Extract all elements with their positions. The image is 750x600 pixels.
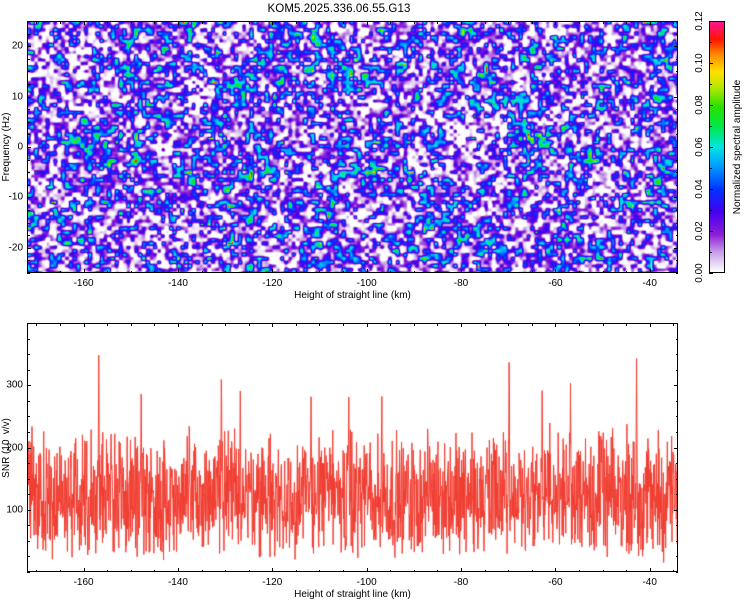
x-minor-tick-top <box>202 323 203 326</box>
x-tick-label: -140 <box>168 278 188 289</box>
x-minor-tick-top <box>107 21 108 24</box>
colorbar-tick-label: 0.12 <box>694 11 705 30</box>
x-major-tick <box>178 568 179 572</box>
x-minor-tick <box>202 570 203 573</box>
x-major-tick <box>367 269 368 273</box>
x-major-tick-top <box>272 21 273 25</box>
y-minor-tick-right <box>676 494 679 495</box>
x-major-tick <box>555 269 556 273</box>
x-minor-tick <box>319 570 320 573</box>
x-minor-tick <box>508 271 509 274</box>
x-minor-tick <box>107 271 108 274</box>
y-minor-tick <box>27 479 30 480</box>
x-major-tick-top <box>461 323 462 327</box>
y-minor-tick <box>27 84 30 85</box>
x-tick-label: -80 <box>454 577 468 588</box>
y-minor-tick-right <box>676 210 679 211</box>
x-minor-tick <box>626 570 627 573</box>
x-minor-tick-top <box>60 323 61 326</box>
y-minor-tick-right <box>676 401 679 402</box>
y-minor-tick <box>27 339 30 340</box>
x-minor-tick-top <box>343 21 344 24</box>
x-major-tick <box>178 269 179 273</box>
y-major-tick-right <box>674 510 678 511</box>
x-major-tick-top <box>84 323 85 327</box>
y-minor-tick-right <box>676 235 679 236</box>
y-minor-tick-right <box>676 109 679 110</box>
x-minor-tick <box>579 570 580 573</box>
x-tick-label: -120 <box>262 577 282 588</box>
y-major-tick <box>27 385 31 386</box>
x-minor-tick <box>225 271 226 274</box>
y-major-tick-right <box>674 147 678 148</box>
x-minor-tick-top <box>225 21 226 24</box>
x-minor-tick <box>673 570 674 573</box>
y-tick-label: 20 <box>0 41 23 52</box>
x-minor-tick-top <box>319 323 320 326</box>
x-major-tick-top <box>178 21 179 25</box>
y-minor-tick-right <box>676 323 679 324</box>
x-major-tick <box>650 269 651 273</box>
colorbar-tick <box>709 105 713 106</box>
colorbar-minor-tick <box>709 42 712 43</box>
x-minor-tick-top <box>319 21 320 24</box>
y-minor-tick <box>27 185 30 186</box>
spectrogram-canvas <box>28 22 678 273</box>
x-minor-tick-top <box>414 21 415 24</box>
x-minor-tick <box>485 271 486 274</box>
x-major-tick-top <box>555 21 556 25</box>
colorbar-tick-label: 0.00 <box>694 263 705 282</box>
x-minor-tick-top <box>414 323 415 326</box>
y-minor-tick-right <box>676 160 679 161</box>
y-minor-tick-right <box>676 21 679 22</box>
x-tick-label: -100 <box>357 577 377 588</box>
x-major-tick-top <box>367 323 368 327</box>
x-minor-tick <box>343 570 344 573</box>
y-minor-tick-right <box>676 172 679 173</box>
x-major-tick <box>650 568 651 572</box>
colorbar-tick-label: 0.06 <box>694 137 705 156</box>
x-minor-tick-top <box>249 21 250 24</box>
x-tick-label: -100 <box>357 278 377 289</box>
x-axis-title: Height of straight line (km) <box>294 290 411 301</box>
y-tick-label: 10 <box>0 91 23 102</box>
y-minor-tick-right <box>676 525 679 526</box>
y-minor-tick <box>27 416 30 417</box>
x-minor-tick-top <box>390 21 391 24</box>
x-minor-tick-top <box>673 323 674 326</box>
y-minor-tick-right <box>676 59 679 60</box>
y-minor-tick <box>27 260 30 261</box>
x-minor-tick-top <box>532 323 533 326</box>
x-minor-tick-top <box>390 323 391 326</box>
colorbar-tick <box>709 231 713 232</box>
y-minor-tick-right <box>676 339 679 340</box>
y-major-tick-right <box>674 97 678 98</box>
y-minor-tick <box>27 59 30 60</box>
y-minor-tick <box>27 160 30 161</box>
x-minor-tick-top <box>36 21 37 24</box>
x-minor-tick <box>532 271 533 274</box>
y-minor-tick <box>27 323 30 324</box>
y-minor-tick <box>27 494 30 495</box>
colorbar-tick-label: 0.08 <box>694 95 705 114</box>
y-minor-tick-right <box>676 354 679 355</box>
x-minor-tick <box>414 570 415 573</box>
x-minor-tick-top <box>508 21 509 24</box>
x-minor-tick <box>154 271 155 274</box>
colorbar-tick <box>709 273 713 274</box>
y-minor-tick <box>27 71 30 72</box>
x-major-tick <box>367 568 368 572</box>
x-tick-label: -160 <box>74 577 94 588</box>
x-minor-tick-top <box>131 323 132 326</box>
x-minor-tick <box>579 271 580 274</box>
y-minor-tick-right <box>676 370 679 371</box>
x-tick-label: -60 <box>548 577 562 588</box>
y-minor-tick <box>27 463 30 464</box>
y-major-tick-right <box>674 197 678 198</box>
x-minor-tick <box>603 271 604 274</box>
x-minor-tick <box>60 570 61 573</box>
x-minor-tick-top <box>485 323 486 326</box>
colorbar-tick-label: 0.04 <box>694 179 705 198</box>
colorbar-minor-tick <box>709 168 712 169</box>
colorbar-tick-label: 0.10 <box>694 53 705 72</box>
x-minor-tick-top <box>532 21 533 24</box>
x-minor-tick <box>390 570 391 573</box>
y-minor-tick <box>27 556 30 557</box>
x-minor-tick <box>437 570 438 573</box>
x-minor-tick-top <box>626 21 627 24</box>
y-minor-tick <box>27 370 30 371</box>
x-minor-tick <box>296 271 297 274</box>
x-minor-tick <box>508 570 509 573</box>
y-minor-tick <box>27 572 30 573</box>
x-minor-tick <box>532 570 533 573</box>
x-minor-tick <box>603 570 604 573</box>
colorbar-tick <box>709 63 713 64</box>
x-minor-tick <box>60 271 61 274</box>
x-minor-tick-top <box>437 21 438 24</box>
x-minor-tick-top <box>485 21 486 24</box>
y-minor-tick <box>27 354 30 355</box>
y-minor-tick <box>27 134 30 135</box>
y-tick-label: -20 <box>0 242 23 253</box>
x-minor-tick-top <box>107 323 108 326</box>
x-major-tick-top <box>650 323 651 327</box>
x-major-tick <box>461 568 462 572</box>
x-minor-tick <box>131 271 132 274</box>
y-minor-tick-right <box>676 432 679 433</box>
x-minor-tick <box>485 570 486 573</box>
x-minor-tick-top <box>579 323 580 326</box>
x-minor-tick-top <box>225 323 226 326</box>
y-minor-tick-right <box>676 223 679 224</box>
x-minor-tick-top <box>508 323 509 326</box>
x-minor-tick <box>225 570 226 573</box>
x-minor-tick-top <box>202 21 203 24</box>
y-major-tick <box>27 197 31 198</box>
page-title: KOM5.2025.336.06.55.G13 <box>0 3 678 15</box>
y-major-tick <box>27 248 31 249</box>
y-minor-tick <box>27 525 30 526</box>
x-major-tick-top <box>272 323 273 327</box>
x-minor-tick-top <box>154 21 155 24</box>
x-minor-tick <box>36 570 37 573</box>
y-major-tick-right <box>674 46 678 47</box>
x-minor-tick-top <box>603 323 604 326</box>
x-minor-tick-top <box>673 21 674 24</box>
x-major-tick-top <box>461 21 462 25</box>
x-major-tick <box>84 568 85 572</box>
colorbar-minor-tick <box>709 126 712 127</box>
spectrogram-plot-area <box>27 21 678 273</box>
x-major-tick-top <box>555 323 556 327</box>
colorbar-tick <box>709 189 713 190</box>
y-major-tick-right <box>674 385 678 386</box>
colorbar-title: Normalized spectral amplitude <box>732 80 743 215</box>
x-major-tick <box>272 269 273 273</box>
x-minor-tick <box>249 570 250 573</box>
y-major-tick-right <box>674 248 678 249</box>
y-minor-tick-right <box>676 34 679 35</box>
x-minor-tick-top <box>579 21 580 24</box>
x-tick-label: -60 <box>548 278 562 289</box>
y-minor-tick <box>27 235 30 236</box>
colorbar-minor-tick <box>709 252 712 253</box>
colorbar-tick <box>709 147 713 148</box>
x-major-tick <box>272 568 273 572</box>
x-minor-tick-top <box>131 21 132 24</box>
colorbar-minor-tick <box>709 210 712 211</box>
y-minor-tick-right <box>676 556 679 557</box>
y-minor-tick <box>27 210 30 211</box>
y-minor-tick <box>27 541 30 542</box>
y-minor-tick <box>27 34 30 35</box>
x-major-tick <box>555 568 556 572</box>
x-axis-title: Height of straight line (km) <box>294 589 411 600</box>
y-minor-tick-right <box>676 463 679 464</box>
x-major-tick <box>461 269 462 273</box>
y-minor-tick <box>27 273 30 274</box>
snr-canvas <box>28 324 678 572</box>
colorbar-tick <box>709 21 713 22</box>
x-minor-tick <box>202 271 203 274</box>
x-major-tick-top <box>84 21 85 25</box>
y-tick-label: -10 <box>0 192 23 203</box>
x-minor-tick-top <box>154 323 155 326</box>
x-minor-tick-top <box>60 21 61 24</box>
x-minor-tick <box>154 570 155 573</box>
y-major-tick <box>27 97 31 98</box>
x-tick-label: -40 <box>642 577 656 588</box>
y-minor-tick <box>27 401 30 402</box>
y-minor-tick-right <box>676 185 679 186</box>
x-tick-label: -140 <box>168 577 188 588</box>
x-minor-tick-top <box>36 323 37 326</box>
colorbar-minor-tick <box>709 84 712 85</box>
y-tick-label: 100 <box>0 504 23 515</box>
y-minor-tick <box>27 109 30 110</box>
x-minor-tick <box>36 271 37 274</box>
x-minor-tick-top <box>343 323 344 326</box>
x-minor-tick-top <box>249 323 250 326</box>
y-minor-tick <box>27 21 30 22</box>
x-minor-tick <box>249 271 250 274</box>
y-minor-tick <box>27 172 30 173</box>
y-axis-title: SNR (10˙ v/v) <box>0 418 12 478</box>
x-minor-tick <box>390 271 391 274</box>
y-minor-tick-right <box>676 273 679 274</box>
x-minor-tick <box>626 271 627 274</box>
y-minor-tick-right <box>676 134 679 135</box>
y-axis-title: Frequency (Hz) <box>1 113 12 182</box>
x-minor-tick-top <box>603 21 604 24</box>
y-major-tick <box>27 46 31 47</box>
x-major-tick-top <box>367 21 368 25</box>
snr-plot-area <box>27 323 678 572</box>
y-minor-tick <box>27 122 30 123</box>
y-minor-tick-right <box>676 84 679 85</box>
x-minor-tick <box>414 271 415 274</box>
y-major-tick <box>27 147 31 148</box>
y-minor-tick <box>27 223 30 224</box>
x-minor-tick <box>296 570 297 573</box>
x-minor-tick <box>343 271 344 274</box>
y-major-tick-right <box>674 448 678 449</box>
y-minor-tick-right <box>676 572 679 573</box>
x-major-tick-top <box>650 21 651 25</box>
x-minor-tick <box>673 271 674 274</box>
y-minor-tick-right <box>676 479 679 480</box>
y-tick-label: 300 <box>0 380 23 391</box>
y-minor-tick-right <box>676 122 679 123</box>
x-tick-label: -80 <box>454 278 468 289</box>
x-major-tick <box>84 269 85 273</box>
figure-root: KOM5.2025.336.06.55.G13 -160-140-120-100… <box>0 0 750 600</box>
x-tick-label: -120 <box>262 278 282 289</box>
x-minor-tick <box>131 570 132 573</box>
y-major-tick <box>27 510 31 511</box>
x-tick-label: -160 <box>74 278 94 289</box>
x-minor-tick-top <box>626 323 627 326</box>
y-minor-tick-right <box>676 71 679 72</box>
x-minor-tick <box>437 271 438 274</box>
x-minor-tick <box>107 570 108 573</box>
x-minor-tick <box>319 271 320 274</box>
colorbar-tick-label: 0.02 <box>694 221 705 240</box>
x-minor-tick-top <box>296 323 297 326</box>
y-minor-tick <box>27 432 30 433</box>
y-minor-tick-right <box>676 260 679 261</box>
x-minor-tick-top <box>296 21 297 24</box>
x-tick-label: -40 <box>642 278 656 289</box>
x-minor-tick-top <box>437 323 438 326</box>
y-minor-tick-right <box>676 541 679 542</box>
y-major-tick <box>27 448 31 449</box>
y-minor-tick-right <box>676 416 679 417</box>
x-major-tick-top <box>178 323 179 327</box>
